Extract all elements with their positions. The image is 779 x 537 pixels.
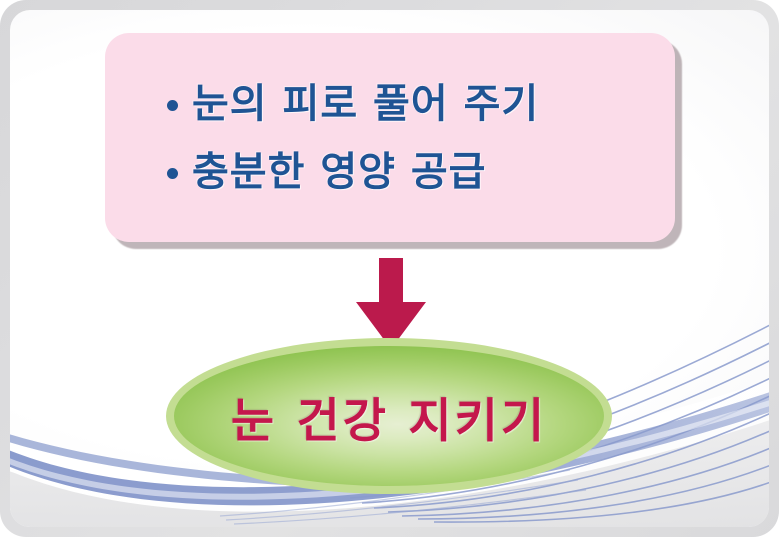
bullet-list: 눈의 피로 풀어 주기 충분한 영양 공급 — [105, 33, 675, 242]
bullet-text-1: 눈의 피로 풀어 주기 — [192, 83, 539, 125]
down-arrow-icon — [352, 258, 430, 350]
bullet-text-2: 충분한 영양 공급 — [192, 151, 486, 193]
bullet-dot-icon — [167, 100, 178, 111]
bullet-dot-icon — [167, 168, 178, 179]
list-item: 눈의 피로 풀어 주기 — [167, 83, 675, 125]
result-ellipse-label: 눈 건강 지키기 — [166, 338, 612, 494]
bullet-box: 눈의 피로 풀어 주기 충분한 영양 공급 — [105, 33, 675, 242]
list-item: 충분한 영양 공급 — [167, 151, 675, 193]
slide-canvas: 눈의 피로 풀어 주기 충분한 영양 공급 눈 건강 지키기 — [0, 0, 779, 537]
result-ellipse: 눈 건강 지키기 — [166, 338, 612, 494]
